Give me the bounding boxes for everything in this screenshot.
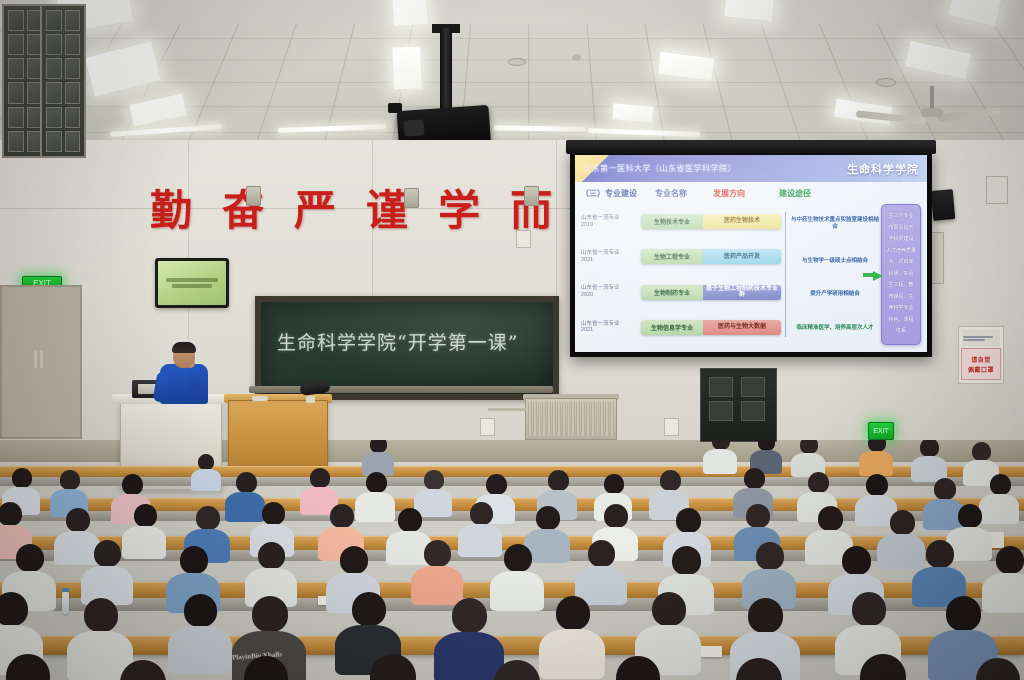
head <box>330 504 354 528</box>
slide-body: 山东省一流专业 2019 生物技术专业 医药生物技术 山东省一流专业 2021 <box>575 202 927 349</box>
radiator-fin <box>571 402 575 436</box>
head <box>66 508 90 532</box>
presentation-slide: 山东第一医科大学（山东省医学科学院） 生命科学学院 （三）专业建设 专业名称 发… <box>575 155 927 352</box>
row-tag-year: 2020 <box>581 292 637 299</box>
torso <box>168 626 232 674</box>
head <box>990 474 1011 495</box>
ceiling-camera-icon <box>388 103 402 113</box>
head <box>926 540 954 568</box>
head <box>890 510 915 535</box>
wall-display-screen <box>158 261 226 305</box>
head <box>340 546 368 574</box>
ceiling-fan-rod <box>930 86 934 110</box>
radiator-fin <box>562 402 566 436</box>
head <box>588 540 615 567</box>
side-panel-line: 点、项目库 <box>888 260 913 266</box>
door-pane <box>65 58 81 79</box>
slide-row: 山东省一流专业 2021 生物信息学专业 医药与生物大数据 <box>581 317 783 338</box>
row-major: 生物制药专业 <box>641 285 703 300</box>
row-direction: 医药产品开发 <box>703 249 781 264</box>
door-handle[interactable] <box>40 350 43 368</box>
head <box>818 506 843 531</box>
radiator-fin <box>542 402 546 436</box>
radiator-fin <box>547 402 551 436</box>
door-pane <box>46 107 62 128</box>
row-tag-year: 2021 <box>581 257 637 264</box>
radiator-fin <box>591 402 595 436</box>
head <box>676 508 701 533</box>
motto-char: 学 <box>438 178 482 236</box>
door-handle[interactable] <box>34 350 37 368</box>
slide-rows: 山东省一流专业 2019 生物技术专业 医药生物技术 山东省一流专业 2021 <box>581 204 783 345</box>
wall-mount-bracket <box>524 186 539 206</box>
row-major: 生物信息学专业 <box>641 320 703 335</box>
head <box>310 468 330 488</box>
radiator-fin <box>538 402 542 436</box>
wall-mount-bracket <box>246 186 261 206</box>
torso <box>54 531 100 565</box>
path-text: 临床精准医学、培养高层次人才 <box>787 325 879 332</box>
torso <box>458 524 502 557</box>
speaker-hair <box>172 342 196 353</box>
ceiling-fan-hub <box>921 108 943 117</box>
head <box>262 502 285 525</box>
head <box>236 472 257 493</box>
row-tag-text: 山东省一流专业 <box>581 215 637 222</box>
side-panel-line: 体系 <box>896 329 906 335</box>
door-pane <box>8 131 24 152</box>
side-panel-line: 布局及提升 <box>888 226 913 232</box>
notice-sign: 请自觉 佩戴口罩 <box>958 326 1004 384</box>
torso <box>225 492 265 522</box>
torso <box>539 629 605 679</box>
door-pane <box>8 82 24 103</box>
head <box>604 504 628 528</box>
radiator-fin <box>576 402 580 436</box>
side-panel-line: 科研、实验 <box>888 272 913 278</box>
slide-side-panel: 生三个专业 布局及提升 学科类建设 人才培养质量 点、项目库 科研、实验 生工程… <box>881 204 921 345</box>
door-pane <box>46 58 62 79</box>
head <box>252 596 288 632</box>
side-panel-line: 特色、课程 <box>888 318 913 324</box>
head <box>842 546 871 575</box>
projector-pole <box>440 28 452 120</box>
side-doorway[interactable] <box>700 368 777 442</box>
torso <box>979 494 1019 524</box>
door-pane <box>65 10 81 31</box>
torso <box>434 632 504 680</box>
head <box>660 470 681 491</box>
head <box>94 540 121 567</box>
head <box>196 506 220 530</box>
door-pane <box>65 82 81 103</box>
row-direction: 医药与生物大数据 <box>703 320 781 335</box>
slide-header: 山东第一医科大学（山东省医学科学院） 生命科学学院 <box>575 155 927 182</box>
smoke-detector-icon <box>572 54 581 61</box>
head <box>604 474 624 494</box>
wall-outlet[interactable] <box>516 230 531 248</box>
head <box>184 594 217 627</box>
row-pill: 生物信息学专业 医药与生物大数据 <box>641 320 781 335</box>
wall-junction-box <box>986 176 1008 204</box>
row-direction: 医药生物技术 <box>703 214 781 229</box>
head <box>756 542 784 570</box>
row-tag: 山东省一流专业 2020 <box>581 285 637 299</box>
radiator-fin <box>567 402 571 436</box>
ceiling <box>0 0 1024 150</box>
row-pill: 生物工程专业 医药产品开发 <box>641 249 781 264</box>
row-tag-text: 山东省一流专业 <box>581 321 637 328</box>
notice-line <box>963 339 985 341</box>
path-text: 提升产学研用相结合 <box>787 291 879 298</box>
head <box>548 470 569 491</box>
table-item-cup <box>306 396 315 403</box>
doorway-window-pane <box>741 377 765 397</box>
row-direction: 基于生物工程制药技术专业群 <box>703 285 781 300</box>
radiator-fin <box>600 402 604 436</box>
right-door-leaf[interactable] <box>40 4 86 158</box>
head <box>808 472 829 493</box>
door-pane <box>8 107 24 128</box>
projector-lens-icon <box>403 119 424 136</box>
head <box>470 502 493 525</box>
row-tag: 山东省一流专业 2021 <box>581 250 637 264</box>
notice-line <box>963 336 993 338</box>
head <box>972 442 991 461</box>
motto-char: 严 <box>294 178 338 236</box>
projection-screen-case <box>566 140 936 154</box>
notice-line1: 请自觉 <box>971 355 991 364</box>
head <box>366 472 387 493</box>
head <box>424 470 444 490</box>
blackboard-chalk-rail <box>249 386 553 393</box>
head <box>0 592 28 626</box>
head <box>12 468 32 488</box>
display-text-line <box>172 284 211 288</box>
radiator-fin <box>533 402 537 436</box>
row-tag-year: 2019 <box>581 222 637 229</box>
torso <box>411 566 463 605</box>
head <box>744 468 765 489</box>
audience-seating-area: PlayinBig Xballs <box>0 440 1024 680</box>
row-tag-text: 山东省一流专业 <box>581 285 637 292</box>
notice-header <box>962 330 1000 346</box>
slide-row: 山东省一流专业 2020 生物制药专业 基于生物工程制药技术专业群 <box>581 282 783 303</box>
display-text-line <box>166 278 218 282</box>
exit-sign-right: EXIT <box>868 422 894 440</box>
side-panel-line: 人才培养质量 <box>886 249 916 255</box>
wall-outlet[interactable] <box>480 418 495 436</box>
head <box>536 506 560 530</box>
side-panel-line: 育课程、生 <box>888 295 913 301</box>
water-bottle <box>62 592 69 614</box>
wall-display-monitor <box>155 258 229 308</box>
head <box>748 598 783 633</box>
blackboard-text: 生命科学学院“开学第一课” <box>277 328 537 355</box>
radiator-pipe <box>488 408 526 411</box>
side-panel-line: 生三个专业 <box>888 214 913 220</box>
torso <box>355 492 395 522</box>
head <box>398 508 422 532</box>
radiator-fin <box>610 402 614 436</box>
head <box>16 544 44 572</box>
head <box>452 598 487 633</box>
motto-char: 勤 <box>150 178 194 236</box>
path-connector-line <box>785 212 786 337</box>
torso <box>877 534 925 569</box>
head <box>556 596 590 630</box>
slide-row: 山东省一流专业 2021 生物工程专业 医药产品开发 <box>581 246 783 267</box>
head <box>958 504 982 528</box>
head <box>198 454 214 470</box>
head <box>84 598 118 632</box>
head <box>258 542 285 569</box>
ceiling-light-panel <box>391 45 423 90</box>
slide-university-name: 山东第一医科大学（山东省医学科学院） <box>583 163 736 174</box>
torso <box>490 571 544 611</box>
wall-mount-bracket <box>404 188 419 208</box>
wall-outlet[interactable] <box>664 418 679 436</box>
row-tag-text: 山东省一流专业 <box>581 250 637 257</box>
head <box>504 544 532 572</box>
doorway-window-pane <box>709 377 733 397</box>
radiator-fin <box>596 402 600 436</box>
radiator-fin <box>552 402 556 436</box>
path-text: 与生物学一级硕士点相结合 <box>787 258 879 265</box>
projection-screen: 山东第一医科大学（山东省医学科学院） 生命科学学院 （三）专业建设 专业名称 发… <box>570 150 932 357</box>
head <box>800 440 818 454</box>
ceiling-vent <box>876 78 896 87</box>
row-major: 生物工程专业 <box>641 249 703 264</box>
path-text: 与中药生物技术重点实验室建设相结合 <box>787 217 879 231</box>
row-tag: 山东省一流专业 2019 <box>581 215 637 229</box>
table-item-paper <box>252 396 268 401</box>
door-pane <box>8 10 24 31</box>
ceiling-light-panel <box>391 0 429 27</box>
door-pane <box>65 34 81 55</box>
slide-path-column: 与中药生物技术重点实验室建设相结合 与生物学一级硕士点相结合 提升产学研用相结合… <box>783 204 879 345</box>
ceiling-vent <box>508 58 526 66</box>
row-major: 生物技术专业 <box>641 214 703 229</box>
side-panel-line: 生工程、教 <box>888 283 913 289</box>
torso <box>982 573 1024 613</box>
notice-red-block: 请自觉 佩戴口罩 <box>961 348 1001 380</box>
radiator <box>525 398 617 440</box>
door-pane <box>46 10 62 31</box>
column-header-path: 建设途径 <box>779 188 853 199</box>
side-panel-line: 命科学专业 <box>888 306 913 312</box>
radiator-fin <box>581 402 585 436</box>
row-pill: 生物制药专业 基于生物工程制药技术专业群 <box>641 285 781 300</box>
door-pane <box>46 34 62 55</box>
lecture-hall-photo: 勤 奋 严 谨 学 而 不 EXIT <box>0 0 1024 680</box>
door-pane <box>46 131 62 152</box>
ceiling-light-panel <box>723 0 775 23</box>
head <box>486 474 507 495</box>
door-pane <box>8 58 24 79</box>
ceiling-light-panel <box>611 102 654 124</box>
head <box>946 596 981 631</box>
radiator-fin <box>557 402 561 436</box>
wall-speaker-icon <box>931 189 956 221</box>
head <box>60 470 80 490</box>
radiator-fin <box>605 402 609 436</box>
head <box>672 546 701 575</box>
side-panel-line: 学科类建设 <box>888 237 913 243</box>
exit-sign-label: EXIT <box>873 428 889 435</box>
head <box>0 502 22 526</box>
door-pane <box>8 34 24 55</box>
head <box>866 474 888 496</box>
doorway-window-pane <box>741 401 765 421</box>
door-pane <box>65 131 81 152</box>
head <box>134 504 157 527</box>
head <box>122 474 143 495</box>
radiator-fin <box>586 402 590 436</box>
slide-college-name: 生命科学学院 <box>847 161 919 177</box>
head <box>424 540 451 567</box>
row-tag: 山东省一流专业 2021 <box>581 321 637 335</box>
notice-line2: 佩戴口罩 <box>968 365 994 374</box>
head <box>746 504 770 528</box>
radiator-fin <box>528 402 532 436</box>
row-tag-year: 2021 <box>581 327 637 334</box>
head <box>180 546 208 574</box>
head <box>934 478 956 500</box>
doorway-window-pane <box>709 401 733 421</box>
head <box>996 546 1024 574</box>
slide-section-title: （三）专业建设 <box>581 188 655 199</box>
row-pill: 生物技术专业 医药生物技术 <box>641 214 781 229</box>
torso <box>191 469 221 491</box>
torso <box>703 449 737 474</box>
head <box>652 592 686 626</box>
slide-row: 山东省一流专业 2019 生物技术专业 医药生物技术 <box>581 211 783 232</box>
head <box>852 592 886 626</box>
torso <box>122 526 166 559</box>
head <box>352 592 386 626</box>
door-pane <box>65 107 81 128</box>
door-pane <box>46 82 62 103</box>
column-header-direction: 发展方向 <box>713 188 779 199</box>
slide-column-headers: （三）专业建设 专业名称 发展方向 建设途径 <box>575 182 927 202</box>
head <box>920 440 939 457</box>
torso <box>859 451 893 476</box>
column-header-major: 专业名称 <box>655 188 713 199</box>
green-arrow-head-icon <box>873 271 883 281</box>
